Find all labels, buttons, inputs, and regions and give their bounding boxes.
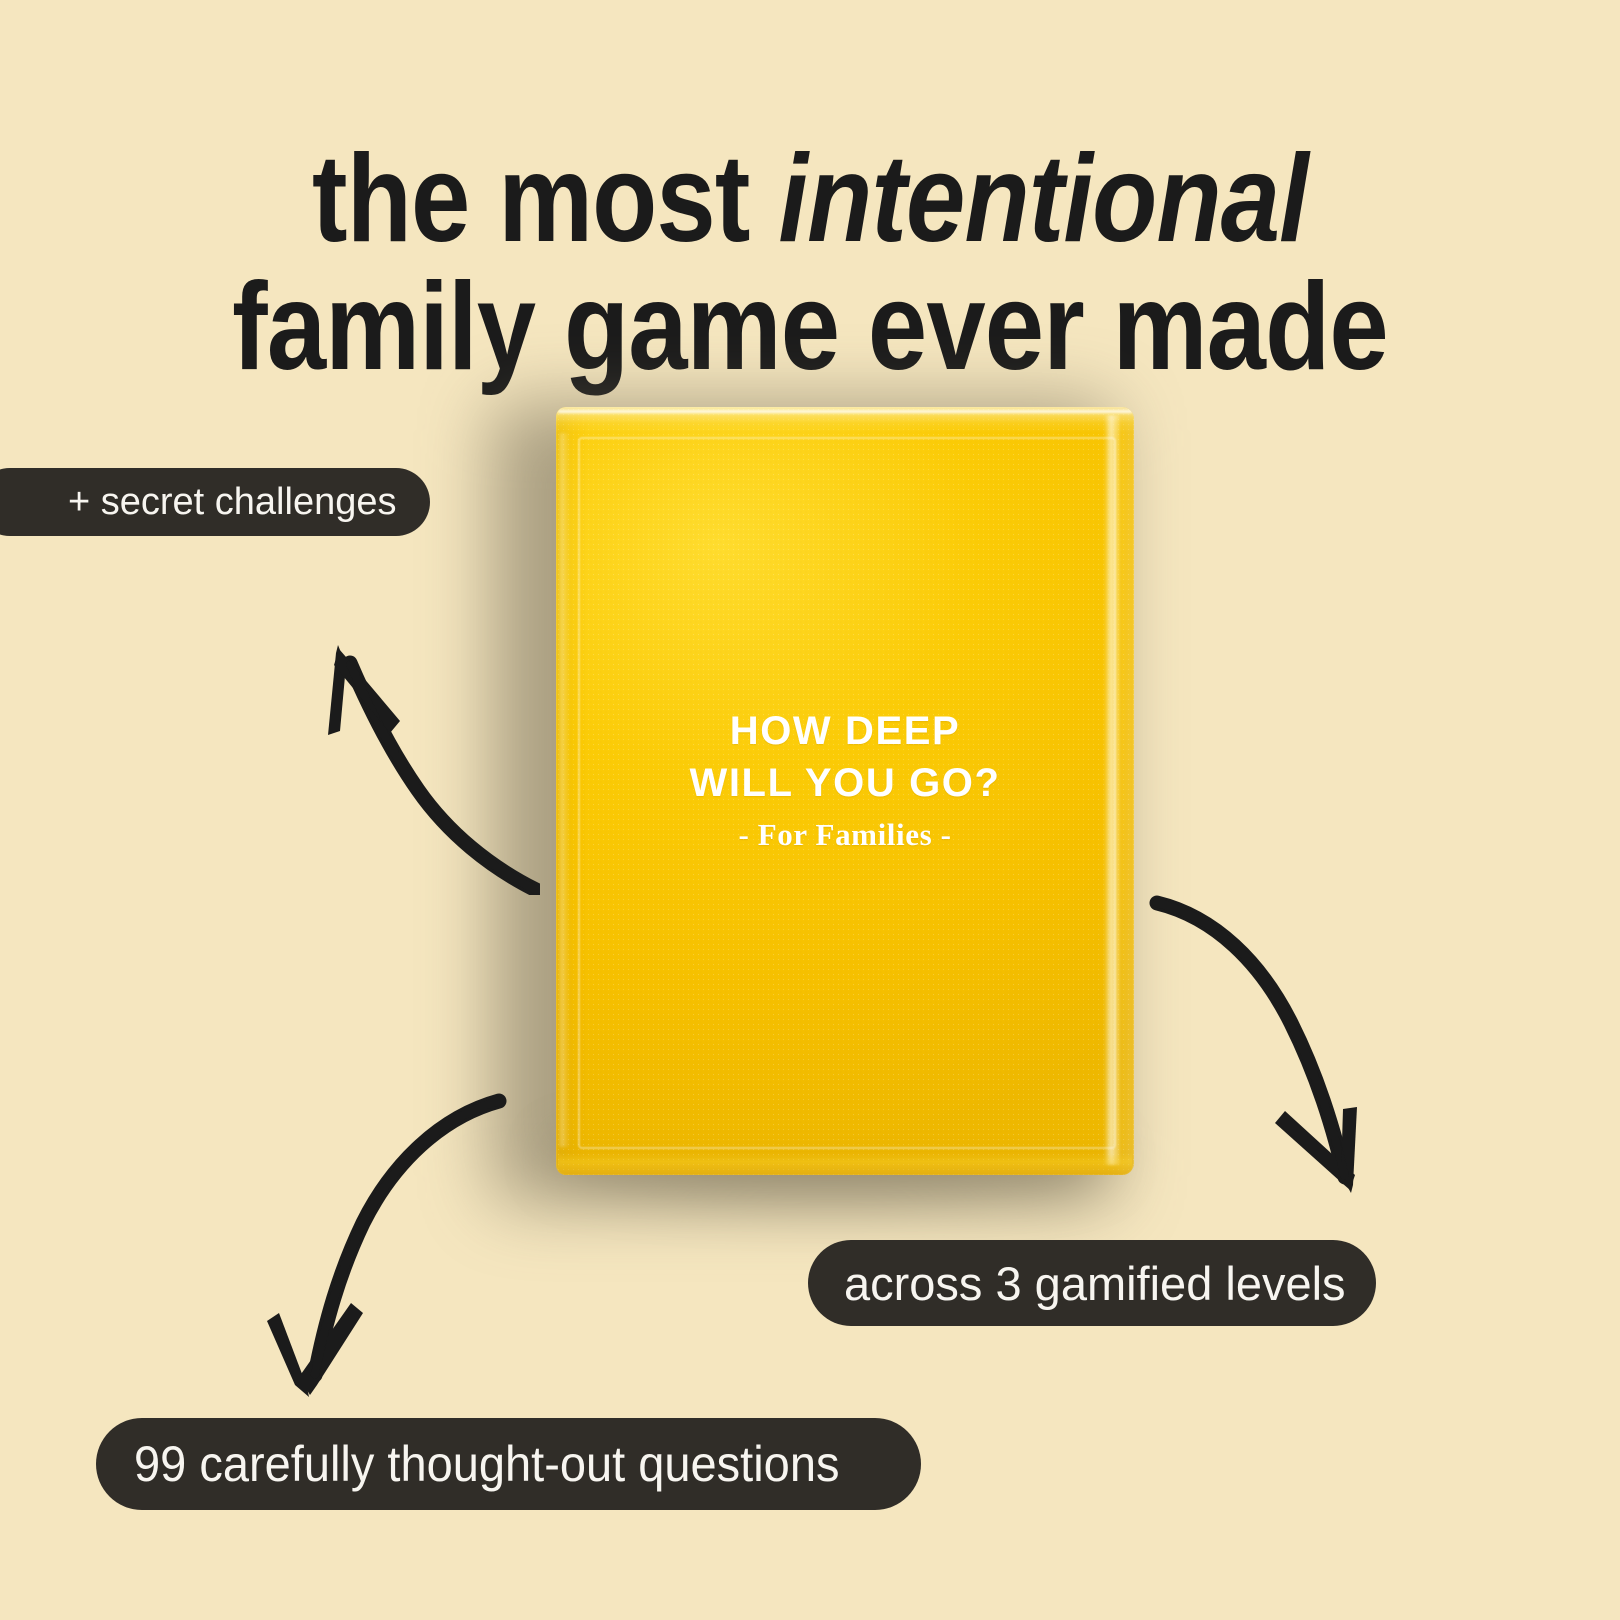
callout-label-secret-challenges: + secret challenges [68, 481, 396, 524]
box-front-typography: HOW DEEP WILL YOU GO? - For Families - [556, 705, 1134, 853]
callout-label-gamified-levels: across 3 gamified levels [844, 1256, 1346, 1311]
headline-emphasis-word: intentional [778, 130, 1308, 268]
promo-graphic: the most intentional family game ever ma… [0, 0, 1620, 1620]
callout-label-questions-count: 99 carefully thought-out questions [134, 1435, 839, 1493]
box-bottom-edge [558, 1153, 1132, 1175]
product-box-photo: HOW DEEP WILL YOU GO? - For Families - [540, 385, 1120, 1177]
headline-line-2: family game ever made [113, 263, 1506, 391]
box-subtitle: - For Families - [556, 817, 1134, 853]
headline-line-1-prefix: the most [312, 130, 778, 268]
headline-line-1: the most intentional [113, 135, 1506, 263]
box-title-line-2: WILL YOU GO? [556, 757, 1134, 809]
callout-pill-questions-count: 99 carefully thought-out questions [96, 1418, 921, 1510]
page-title: the most intentional family game ever ma… [0, 135, 1620, 391]
shrinkwrap-seam-top [558, 410, 1132, 413]
curved-arrow-down-right-icon [1095, 845, 1395, 1205]
callout-pill-secret-challenges: + secret challenges [0, 468, 430, 536]
callout-pill-gamified-levels: across 3 gamified levels [808, 1240, 1376, 1326]
box-title-line-1: HOW DEEP [556, 705, 1134, 757]
product-box: HOW DEEP WILL YOU GO? - For Families - [556, 407, 1134, 1175]
